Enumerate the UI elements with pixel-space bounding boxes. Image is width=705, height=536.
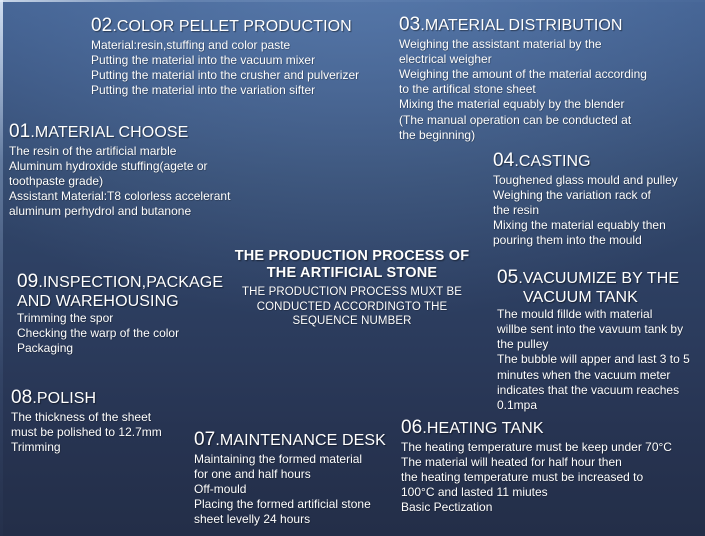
step-08-title: 08.POLISH	[11, 388, 162, 409]
step-03-number: 03	[399, 14, 420, 35]
step-03-line: the beginning)	[399, 128, 647, 143]
step-04-line: Toughened glass mould and pulley	[493, 173, 678, 188]
step-04-line: Weighing the variation rack of	[493, 188, 678, 203]
process-step-01: 01.MATERIAL CHOOSE The resin of the arti…	[9, 122, 230, 220]
step-03-title: 03.MATERIAL DISTRIBUTION	[399, 15, 647, 36]
step-06-body: The heating temperature must be keep und…	[401, 440, 672, 516]
step-07-number: 07	[194, 429, 215, 450]
step-08-line: must be polished to 12.7mm	[11, 425, 162, 440]
step-01-number: 01	[9, 121, 30, 142]
step-01-title-text: .MATERIAL CHOOSE	[30, 124, 188, 141]
step-09-body: Trimming the spor Checking the warp of t…	[17, 311, 232, 357]
step-04-line: pouring them into the mould	[493, 233, 678, 248]
step-05-title-text-line2: VACUUM TANK	[497, 289, 697, 306]
step-02-number: 02	[91, 15, 112, 36]
center-title-sub-line: SEQUENCE NUMBER	[202, 314, 502, 329]
step-02-line: Putting the material into the crusher an…	[91, 68, 359, 83]
step-01-line: The resin of the artificial marble	[9, 144, 230, 159]
step-07-line: sheet levelly 24 hours	[194, 512, 386, 527]
step-09-title-text-line2: AND WAREHOUSING	[17, 293, 232, 310]
step-09-number: 09	[17, 271, 38, 292]
step-06-line: Basic Pectization	[401, 500, 672, 515]
process-diagram-slide: 02.COLOR PELLET PRODUCTION Material:resi…	[0, 0, 705, 536]
step-07-title: 07.MAINTENANCE DESK	[194, 430, 386, 451]
step-07-line: for one and half hours	[194, 467, 386, 482]
step-03-title-text: .MATERIAL DISTRIBUTION	[420, 17, 622, 34]
center-title-block: THE PRODUCTION PROCESS OF THE ARTIFICIAL…	[202, 248, 502, 329]
step-08-line: The thickness of the sheet	[11, 410, 162, 425]
step-03-line: Weighing the amount of the material acco…	[399, 67, 647, 82]
step-01-line: Aluminum hydroxide stuffing(agete or	[9, 159, 230, 174]
step-02-line: Material:resin,stuffing and color paste	[91, 38, 359, 53]
step-05-line: indicates that the vacuum reaches	[497, 383, 697, 398]
step-03-line: Weighing the assistant material by the	[399, 37, 647, 52]
step-02-title: 02.COLOR PELLET PRODUCTION	[91, 16, 359, 37]
step-01-body: The resin of the artificial marble Alumi…	[9, 144, 230, 220]
step-09-line: Checking the warp of the color	[17, 326, 232, 341]
center-title-sub-line: THE PRODUCTION PROCESS MUXT BE	[202, 285, 502, 300]
step-06-title-text: .HEATING TANK	[422, 420, 543, 437]
step-05-title-text: .VACUUMIZE BY THE	[518, 270, 679, 287]
step-07-line: Placing the formed artificial stone	[194, 497, 386, 512]
step-05-title: 05.VACUUMIZE BY THE VACUUM TANK	[497, 268, 697, 306]
step-06-line: the heating temperature must be increase…	[401, 470, 672, 485]
step-08-body: The thickness of the sheet must be polis…	[11, 410, 162, 456]
process-step-03: 03.MATERIAL DISTRIBUTION Weighing the as…	[399, 15, 647, 143]
process-step-07: 07.MAINTENANCE DESK Maintaining the form…	[194, 430, 386, 528]
step-05-line: 0.1mpa	[497, 398, 697, 413]
process-step-08: 08.POLISH The thickness of the sheet mus…	[11, 388, 162, 455]
step-03-line: (The manual operation can be conducted a…	[399, 113, 647, 128]
step-03-body: Weighing the assistant material by the e…	[399, 37, 647, 143]
process-step-06: 06.HEATING TANK The heating temperature …	[401, 418, 672, 516]
step-01-line: toothpaste grade)	[9, 174, 230, 189]
center-title-main-line: THE PRODUCTION PROCESS OF	[202, 248, 502, 265]
step-06-line: The material will heated for half hour t…	[401, 455, 672, 470]
process-step-02: 02.COLOR PELLET PRODUCTION Material:resi…	[91, 16, 359, 98]
step-01-line: Assistant Material:T8 colorless accelera…	[9, 189, 230, 204]
step-04-line: Mixing the material equably then	[493, 218, 678, 233]
step-08-title-text: .POLISH	[32, 390, 96, 407]
process-step-05: 05.VACUUMIZE BY THE VACUUM TANK The moul…	[497, 268, 697, 413]
step-06-line: The heating temperature must be keep und…	[401, 440, 672, 455]
center-title-subtitle: THE PRODUCTION PROCESS MUXT BE CONDUCTED…	[202, 285, 502, 329]
step-03-line: electrical weigher	[399, 52, 647, 67]
step-04-body: Toughened glass mould and pulley Weighin…	[493, 173, 678, 249]
process-step-04: 04.CASTING Toughened glass mould and pul…	[493, 151, 678, 249]
step-02-line: Putting the material into the vacuum mix…	[91, 53, 359, 68]
step-09-title-text: .INSPECTION,PACKAGE	[38, 274, 223, 291]
step-02-line: Putting the material into the variation …	[91, 83, 359, 98]
step-06-number: 06	[401, 417, 422, 438]
step-05-line: The mould fillde with material	[497, 307, 697, 322]
step-06-line: 100°C and lasted 11 miutes	[401, 485, 672, 500]
step-04-number: 04	[493, 150, 514, 171]
step-01-line: aluminum perhydrol and butanone	[9, 204, 230, 219]
step-06-title: 06.HEATING TANK	[401, 418, 672, 439]
step-03-line: to the artifical stone sheet	[399, 82, 647, 97]
step-04-title: 04.CASTING	[493, 151, 678, 172]
step-07-body: Maintaining the formed material for one …	[194, 452, 386, 528]
step-02-title-text: .COLOR PELLET PRODUCTION	[112, 18, 352, 35]
step-09-line: Packaging	[17, 341, 232, 356]
step-05-line: the pulley	[497, 337, 697, 352]
step-05-body: The mould fillde with material willbe se…	[497, 307, 697, 413]
center-title-main: THE PRODUCTION PROCESS OF THE ARTIFICIAL…	[202, 248, 502, 281]
center-title-sub-line: CONDUCTED ACCORDINGTO THE	[202, 300, 502, 315]
step-05-line: willbe sent into the vavuum tank by	[497, 322, 697, 337]
step-03-line: Mixing the material equably by the blend…	[399, 97, 647, 112]
step-07-line: Maintaining the formed material	[194, 452, 386, 467]
step-08-line: Trimming	[11, 440, 162, 455]
step-08-number: 08	[11, 387, 32, 408]
step-09-line: Trimming the spor	[17, 311, 232, 326]
step-07-line: Off-mould	[194, 482, 386, 497]
center-title-main-line: THE ARTIFICIAL STONE	[202, 265, 502, 282]
step-07-title-text: .MAINTENANCE DESK	[215, 432, 386, 449]
step-02-body: Material:resin,stuffing and color paste …	[91, 38, 359, 99]
step-09-title: 09.INSPECTION,PACKAGE AND WAREHOUSING	[17, 272, 232, 310]
process-step-09: 09.INSPECTION,PACKAGE AND WAREHOUSING Tr…	[17, 272, 232, 356]
step-05-line: The bubble will apper and last 3 to 5	[497, 352, 697, 367]
step-04-line: the resin	[493, 203, 678, 218]
step-05-line: minutes when the vacuum meter	[497, 368, 697, 383]
step-01-title: 01.MATERIAL CHOOSE	[9, 122, 230, 143]
step-04-title-text: .CASTING	[514, 153, 590, 170]
